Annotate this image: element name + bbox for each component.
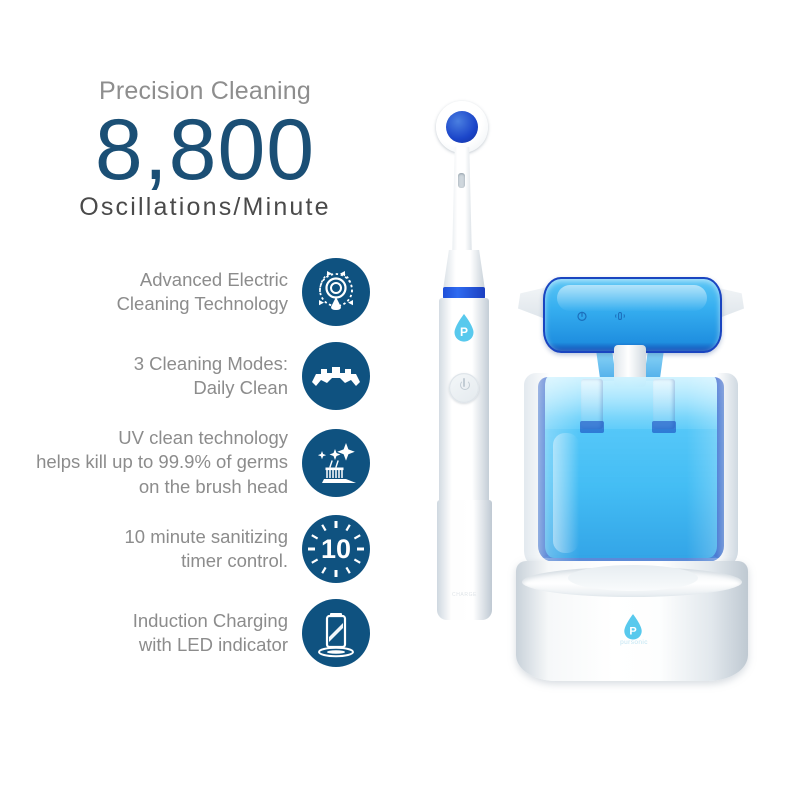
feature-item-cleaning-modes: 3 Cleaning Modes: Daily Clean bbox=[10, 342, 370, 410]
brush-head-bristles bbox=[436, 101, 488, 153]
feature-label: 10 minute sanitizing timer control. bbox=[124, 525, 302, 574]
feature-list: Advanced Electric Cleaning Technology bbox=[10, 258, 370, 683]
headline-block: Precision Cleaning 8,800 Oscillations/Mi… bbox=[40, 78, 370, 221]
sanitizer-lid[interactable] bbox=[543, 277, 722, 353]
feature-label: 3 Cleaning Modes: Daily Clean bbox=[134, 352, 302, 401]
brush-handle-lower bbox=[437, 500, 492, 620]
brush-upper-body bbox=[443, 250, 485, 290]
power-button[interactable] bbox=[449, 373, 479, 403]
uv-sparkle-brush-icon bbox=[302, 429, 370, 497]
rotating-brush-head-icon bbox=[302, 258, 370, 326]
feature-item-induction-charging: Induction Charging with LED indicator bbox=[10, 599, 370, 667]
feature-label: Induction Charging with LED indicator bbox=[133, 609, 302, 658]
feature-item-uv-clean: UV clean technology helps kill up to 99.… bbox=[10, 426, 370, 499]
feature-item-timer: 10 minute sanitizing timer control. bbox=[10, 515, 370, 583]
battery-charging-icon bbox=[302, 599, 370, 667]
svg-text:P: P bbox=[629, 625, 636, 637]
feature-item-advanced-electric: Advanced Electric Cleaning Technology bbox=[10, 258, 370, 326]
product-infographic: Precision Cleaning 8,800 Oscillations/Mi… bbox=[0, 0, 802, 802]
chamber-top-shade bbox=[545, 377, 717, 429]
svg-text:P: P bbox=[460, 325, 468, 339]
charge-label: CHARGE bbox=[442, 592, 487, 598]
headline-subtitle: Oscillations/Minute bbox=[40, 194, 370, 222]
uv-light-icon[interactable] bbox=[614, 309, 626, 321]
svg-text:10: 10 bbox=[321, 534, 351, 564]
teeth-arch-icon bbox=[302, 342, 370, 410]
pursonic-droplet-logo-icon: P bbox=[622, 613, 644, 641]
sanitizer-chamber bbox=[538, 377, 724, 562]
brush-holder-base bbox=[580, 421, 604, 433]
feature-label: UV clean technology helps kill up to 99.… bbox=[36, 426, 302, 499]
pursonic-droplet-logo-icon: P bbox=[452, 313, 476, 343]
brush-neck-slot bbox=[458, 173, 465, 188]
product-image-area: P CHARGE bbox=[375, 0, 802, 802]
base-charging-well bbox=[568, 565, 698, 591]
brush-neck bbox=[449, 147, 475, 255]
lid-highlight bbox=[557, 285, 707, 311]
brush-head-center bbox=[446, 111, 478, 143]
chamber-highlight bbox=[553, 433, 579, 553]
uv-sanitizer: P pursonic bbox=[510, 265, 795, 725]
oscillations-number: 8,800 bbox=[40, 108, 370, 192]
feature-label: Advanced Electric Cleaning Technology bbox=[117, 268, 302, 317]
timer-10-icon: 10 bbox=[302, 515, 370, 583]
brush-holder-base bbox=[652, 421, 676, 433]
power-icon[interactable] bbox=[576, 309, 588, 321]
brand-wordmark: pursonic bbox=[608, 639, 660, 646]
